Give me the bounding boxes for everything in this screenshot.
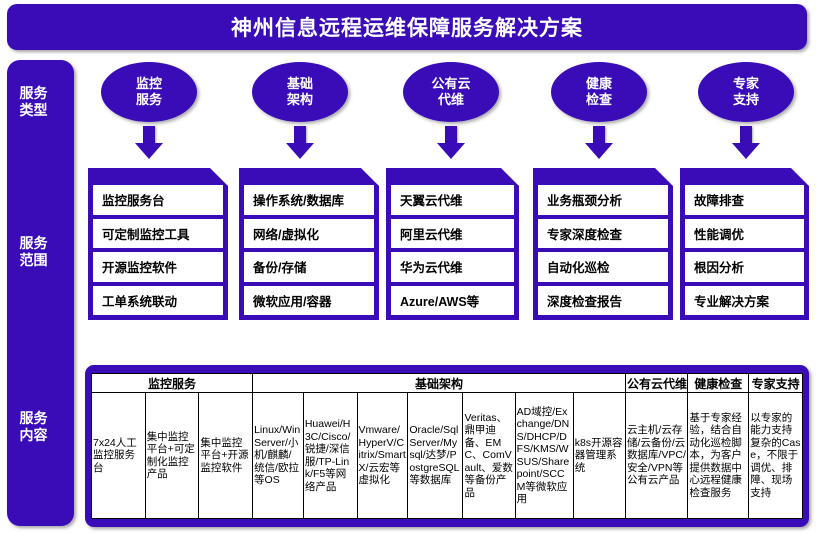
ellipse-label-line2: 代维 — [438, 92, 464, 108]
table-cell: 以专家的能力支持复杂的Case，不限于调优、排障、现场支持 — [749, 393, 803, 519]
down-arrow-icon — [285, 126, 315, 166]
page-title: 神州信息远程运维保障服务解决方案 — [231, 12, 583, 42]
scope-item[interactable]: 微软应用/容器 — [244, 286, 374, 316]
row-label-sidebar — [7, 60, 74, 526]
scope-item[interactable]: 华为云代维 — [391, 252, 514, 282]
scope-item[interactable]: 备份/存储 — [244, 252, 374, 282]
table-cell: 集中监控平台+开源监控软件 — [199, 393, 253, 519]
table-group-header: 监控服务 — [92, 374, 253, 393]
sidebar-item-service-scope: 服务 范围 — [0, 235, 67, 269]
ellipse-label-line2: 服务 — [136, 92, 162, 108]
sidebar-label-line2: 内容 — [0, 427, 67, 444]
scope-panel-infrastructure: 操作系统/数据库 网络/虚拟化 备份/存储 微软应用/容器 — [239, 168, 379, 320]
table-group-header: 公有云代维 — [625, 374, 687, 393]
scope-item[interactable]: 专家深度检查 — [538, 219, 668, 249]
table-cell: Huawei/H3C/Cisco/锐捷/深信服/TP-Link/F5等网络产品 — [303, 393, 357, 519]
scope-item[interactable]: 专业解决方案 — [685, 286, 804, 316]
sidebar-item-service-content: 服务 内容 — [0, 410, 67, 444]
scope-panel-monitoring: 监控服务台 可定制监控工具 开源监控软件 工单系统联动 — [88, 168, 228, 320]
sidebar-label-line1: 服务 — [0, 85, 67, 102]
down-arrow-icon — [436, 126, 466, 166]
sidebar-label-line1: 服务 — [0, 235, 67, 252]
scope-item[interactable]: 网络/虚拟化 — [244, 219, 374, 249]
scope-item[interactable]: 可定制监控工具 — [93, 219, 223, 249]
scope-item[interactable]: Azure/AWS等 — [391, 286, 514, 316]
scope-item[interactable]: 工单系统联动 — [93, 286, 223, 316]
sidebar-label-line2: 类型 — [0, 102, 67, 119]
title-banner: 神州信息远程运维保障服务解决方案 — [7, 4, 807, 50]
slide-canvas: 神州信息远程运维保障服务解决方案 服务 类型 服务 范围 服务 内容 监控 服务… — [0, 0, 816, 533]
down-arrow-icon — [731, 126, 761, 166]
table-cell: 云主机/云存储/云备份/云数据库/VPC/安全/VPN等公有云产品 — [625, 393, 687, 519]
table-cell: k8s开源容器管理系统 — [573, 393, 625, 519]
service-type-ellipse-infrastructure[interactable]: 基础 架构 — [252, 62, 348, 122]
table-cell: Veritas、鼎甲迪备、EMC、ComVault、爱数等备份产品 — [463, 393, 515, 519]
table-cell: 基于专家经验，结合自动化巡检脚本，为客户提供数据中心远程健康检查服务 — [688, 393, 749, 519]
scope-item[interactable]: 性能调优 — [685, 219, 804, 249]
ellipse-label-line1: 专家 — [733, 76, 759, 92]
table-cell: 集中监控平台+可定制化监控产品 — [145, 393, 199, 519]
scope-item[interactable]: 深度检查报告 — [538, 286, 668, 316]
service-type-ellipse-expert-support[interactable]: 专家 支持 — [698, 62, 794, 122]
scope-item[interactable]: 根因分析 — [685, 252, 804, 282]
service-type-ellipse-public-cloud[interactable]: 公有云 代维 — [403, 62, 499, 122]
ellipse-label-line2: 检查 — [586, 92, 612, 108]
service-type-ellipse-monitoring[interactable]: 监控 服务 — [101, 62, 197, 122]
scope-item[interactable]: 业务瓶颈分析 — [538, 185, 668, 215]
table-cell: Oracle/SqlServer/Mysql/达梦/PostgreSQL等数据库 — [408, 393, 463, 519]
service-content-panel: 监控服务 基础架构 公有云代维 健康检查 专家支持 7x24人工监控服务台 集中… — [85, 365, 809, 527]
sidebar-label-line1: 服务 — [0, 410, 67, 427]
scope-item[interactable]: 监控服务台 — [93, 185, 223, 215]
ellipse-label-line1: 基础 — [287, 76, 313, 92]
scope-panel-expert-support: 故障排查 性能调优 根因分析 专业解决方案 — [680, 168, 809, 320]
table-cell: AD域控/Exchange/DNS/DHCP/DFS/KMS/WSUS/Shar… — [515, 393, 573, 519]
ellipse-label-line2: 支持 — [733, 92, 759, 108]
sidebar-item-service-type: 服务 类型 — [0, 85, 67, 119]
table-cell: Vmware/HyperV/Citrix/SmartX/云宏等虚拟化 — [357, 393, 408, 519]
ellipse-label-line1: 公有云 — [431, 76, 470, 92]
scope-item[interactable]: 天翼云代维 — [391, 185, 514, 215]
service-type-ellipse-health-check[interactable]: 健康 检查 — [551, 62, 647, 122]
ellipse-label-line1: 健康 — [586, 76, 612, 92]
sidebar-label-line2: 范围 — [0, 252, 67, 269]
scope-item[interactable]: 故障排查 — [685, 185, 804, 215]
table-group-header: 专家支持 — [749, 374, 803, 393]
table-cell: Linux/WinServer/小机/麒麟/统信/欧拉等OS — [253, 393, 304, 519]
down-arrow-icon — [584, 126, 614, 166]
scope-item[interactable]: 自动化巡检 — [538, 252, 668, 282]
table-cell: 7x24人工监控服务台 — [92, 393, 146, 519]
service-content-table: 监控服务 基础架构 公有云代维 健康检查 专家支持 7x24人工监控服务台 集中… — [91, 373, 803, 519]
scope-item[interactable]: 开源监控软件 — [93, 252, 223, 282]
scope-item[interactable]: 阿里云代维 — [391, 219, 514, 249]
table-group-header: 健康检查 — [688, 374, 749, 393]
scope-panel-health-check: 业务瓶颈分析 专家深度检查 自动化巡检 深度检查报告 — [533, 168, 673, 320]
table-row: 7x24人工监控服务台 集中监控平台+可定制化监控产品 集中监控平台+开源监控软… — [92, 393, 803, 519]
ellipse-label-line1: 监控 — [136, 76, 162, 92]
table-group-header-row: 监控服务 基础架构 公有云代维 健康检查 专家支持 — [92, 374, 803, 393]
scope-panel-public-cloud: 天翼云代维 阿里云代维 华为云代维 Azure/AWS等 — [386, 168, 519, 320]
ellipse-label-line2: 架构 — [287, 92, 313, 108]
table-group-header: 基础架构 — [253, 374, 626, 393]
down-arrow-icon — [134, 126, 164, 166]
scope-item[interactable]: 操作系统/数据库 — [244, 185, 374, 215]
